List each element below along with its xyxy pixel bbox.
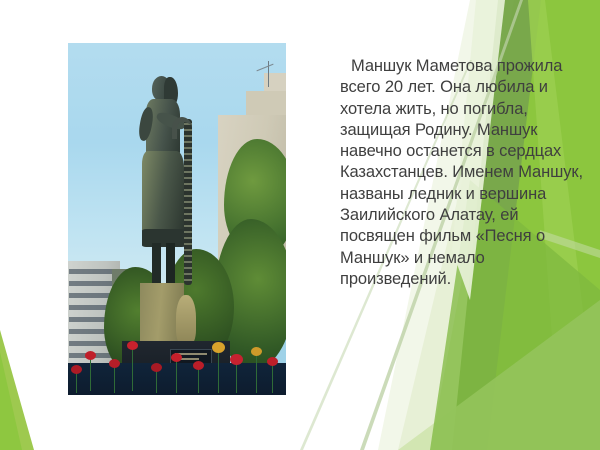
slide-body-text: Маншук Маметова прожила всего 20 лет. Он… (340, 56, 588, 290)
photo-pedestal-flame (176, 295, 196, 345)
photo-statue-coat-hem (142, 229, 186, 247)
photo-flowers (68, 339, 286, 395)
slide-canvas: Маншук Маметова прожила всего 20 лет. Он… (0, 0, 600, 450)
photo-statue-leg-right (166, 243, 175, 287)
manshuk-mametova-monument-photo (68, 43, 286, 395)
photo-ammunition-belt (184, 119, 192, 285)
photo-ammunition-belt-curve (172, 117, 192, 139)
photo-statue-leg-left (152, 243, 161, 287)
